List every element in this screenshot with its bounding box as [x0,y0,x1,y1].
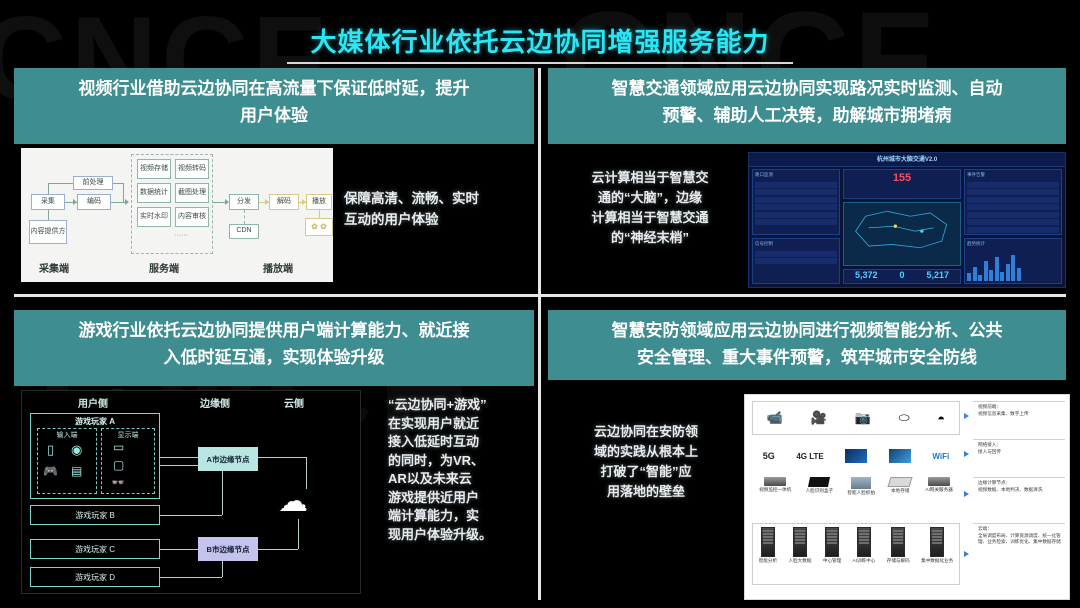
edge-device-item: AI网关服务器 [926,477,953,493]
slide-title: 大媒体行业依托云边协同增强服务能力 [0,22,1080,59]
note-text: 视频信息采集、数字上传 [978,411,1063,418]
note-text: 接入与回传 [978,449,1063,456]
traffic-note-line4: 的“神经末梢” [566,228,734,248]
game-header-line2: 入低时延互通，实现体验升级 [24,344,524,371]
dashboard-map [843,202,961,266]
title-underline [287,62,793,64]
edge-device-item: 本地存储 [889,477,911,494]
game-note-line: 现用户体验升级。 [388,526,536,545]
node-server-more: ······ [151,232,211,239]
edge-box-icon [764,477,786,486]
video-header: 视频行业借助云边协同在高流量下保证低时延，提升 用户体验 [14,68,534,144]
vr-headset-icon: 👓 [111,476,125,489]
quadrant-game: 游戏行业依托云边协同提供用户端计算能力、就近接 入低时延互通，实现体验升级 用户… [14,310,534,602]
server-rack-icon [793,527,807,557]
player-a-label: 游戏玩家 A [31,416,159,427]
server-rack-icon [857,527,871,557]
server-label: 集中数据化业务 [921,558,953,564]
node-content-audit: 内容审核 [175,207,209,227]
note-text: 视频数据、本地判决、数据清洗 [978,487,1063,494]
traffic-header-line2: 预警、辅助人工决策，助解城市拥堵病 [558,102,1056,129]
node-cdn: CDN [229,224,259,239]
node-play-devices: ✿ ✿ [305,218,333,236]
dashboard-kpi-value: 5,372 [855,270,878,280]
server-item: 集中数据化业务 [921,527,953,564]
camera-item: ⬭ [898,410,909,426]
5g-icon: 5G [763,451,775,461]
network-item: 4G LTE [796,452,823,461]
security-note-edge: 边缘计算节点： 视频数据、本地判决、数据清洗 [973,477,1065,519]
video-header-line1: 视频行业借助云边协同在高流量下保证低时延，提升 [24,75,524,102]
game-note-line: 在实现用户就近 [388,415,536,434]
gamepad-icon: 🎮 [43,464,58,478]
server-label: 存储与解码 [887,558,910,564]
edge-device-label: 人脸识别盒子 [806,488,834,494]
stage-label-server: 服务端 [149,260,179,275]
node-preprocess: 前处理 [73,176,113,190]
4g-lte-icon: 4G LTE [796,452,823,461]
network-item: 5G [763,451,775,461]
node-content-provider: 内容提供方 [29,220,67,244]
node-watermark: 实时水印 [137,207,171,227]
network-item: WiFi [932,452,949,461]
slide-root: CNCF CNCF CNCF 中国 大媒体行业依托云边协同增强服务能力 视频行业… [0,0,1080,608]
note-text: 全局调度布局、计算资源调度、统一化管理、业务检索、训练优化、集中数据存储 [978,533,1063,546]
game-note-line: AR以及未来云 [388,470,536,489]
node-video-storage: 视频存储 [137,159,171,179]
game-note-line: 游戏提供近用户 [388,489,536,508]
edge-device-label: 视频监控一体机 [759,487,791,493]
edge-device-label: AI网关服务器 [926,487,953,493]
dashboard-panel-label: 路口监测 [753,170,839,180]
server-item: 人脸大数据 [788,527,811,564]
traffic-note-line2: 通的“大脑”，边缘 [566,188,734,208]
edge-device-item: 人脸识别盒子 [806,477,834,494]
server-item: 存储与解码 [887,527,910,564]
server-label: 人脸大数据 [788,558,811,564]
monitor-icon: ▢ [113,458,124,472]
camera-item: 📷 [855,410,871,426]
stage-label-play: 播放端 [263,260,293,275]
camera-item: 📹 [767,410,783,426]
dashboard-bar-chart [965,249,1061,283]
security-architecture-figure: 📹 🎥 📷 ⬭ ◓ 视频前端： 视频信息采集、数字上传 5G 4G LTE [744,394,1070,600]
traffic-dashboard-screenshot: 杭州城市大脑交通V2.0 路口监测 信号控制 [748,152,1066,288]
server-item: 智能分析 [759,527,777,564]
dashboard-kpi-main: 155 [844,172,960,184]
game-architecture-figure: 用户侧 边缘侧 云侧 游戏玩家 A 输入端 显示端 ▯ ◉ 🎮 ▤ ▭ ▢ 👓 … [21,390,361,594]
divider-vertical [538,68,541,600]
traffic-note-line1: 云计算相当于智慧交 [566,168,734,188]
security-note: 云边协同在安防领 域的实践从根本上 打破了“智能”应 用落地的壁垒 [566,422,726,502]
edge-device-label: 本地存储 [891,488,909,494]
game-header: 游戏行业依托云边协同提供用户端计算能力、就近接 入低时延互通，实现体验升级 [14,310,534,386]
node-capture: 采集 [31,194,65,210]
security-note-line4: 用落地的壁垒 [566,482,726,502]
column-label-user: 用户侧 [78,395,108,410]
server-rack-icon [930,527,944,557]
server-item: AI训练中心 [853,527,876,564]
remote-control-icon: ▤ [71,464,82,478]
edge-box-icon [851,477,871,489]
game-note-line: 的同时，为VR、 [388,452,536,471]
server-label: 中心管理 [823,558,841,564]
column-label-edge: 边缘侧 [200,395,230,410]
camera-icon: ◉ [71,442,82,458]
subgroup-label-display: 显示端 [105,430,151,440]
bullet-camera-icon: 📹 [767,410,783,426]
storage-icon [888,477,913,487]
node-distribute: 分发 [229,194,259,210]
camera-item: 🎥 [811,410,827,426]
security-row-edge: 视频监控一体机 人脸识别盒子 智能人脸抓拍 本地存储 AI网关服务器 [752,477,960,519]
security-row-cameras: 📹 🎥 📷 ⬭ ◓ [752,401,960,435]
play-device-icon: ✿ ✿ [311,223,327,232]
quadrant-security: 智慧安防领域应用云边协同进行视频智能分析、公共 安全管理、重大事件预警，筑牢城市… [548,310,1066,602]
video-note-line2: 互动的用户体验 [344,209,534,230]
dome-camera-icon: ◓ [937,411,945,426]
quadrant-traffic: 智慧交通领域应用云边协同实现路况实时监测、自动 预警、辅助人工决策，助解城市拥堵… [548,68,1066,290]
traffic-note: 云计算相当于智慧交 通的“大脑”，边缘 计算相当于智慧交通 的“神经末梢” [566,168,734,248]
edge-device-label: 智能人脸抓拍 [847,490,875,496]
game-note: “云边协同+游戏” 在实现用户就近 接入低延时互动 的同时，为VR、 AR以及未… [388,396,536,544]
server-label: 智能分析 [759,558,777,564]
dashboard-panel-label: 趋势统计 [965,239,1061,249]
edge-node-b: B市边缘节点 [198,537,258,561]
camera-item: ◓ [937,411,945,426]
edge-node-a: A市边缘节点 [198,447,258,471]
dashboard-title: 杭州城市大脑交通V2.0 [749,154,1065,163]
bullet-camera-icon: 🎥 [811,410,827,426]
column-label-cloud: 云侧 [284,395,304,410]
player-c-box: 游戏玩家 C [30,539,160,559]
video-note-line1: 保障高清、流畅、实时 [344,188,534,209]
player-b-box: 游戏玩家 B [30,505,160,525]
slide-title-text: 大媒体行业依托云边协同增强服务能力 [310,27,769,57]
network-item [845,449,867,463]
node-encode: 编码 [77,194,111,210]
server-label: AI训练中心 [853,558,876,564]
security-note-network: 网络接入： 接入与回传 [973,439,1065,473]
server-rack-icon [891,527,905,557]
dome-camera-icon: ⬭ [898,410,909,426]
map-vector [844,203,960,253]
dashboard-titlebar: 杭州城市大脑交通V2.0 [749,153,1065,167]
node-video-transcode: 视频转码 [175,159,209,179]
subgroup-label-input: 输入端 [43,430,91,440]
security-note-cloud: 云端： 全局调度布局、计算资源调度、统一化管理、业务检索、训练优化、集中数据存储 [973,523,1065,585]
edge-box-icon [808,477,830,487]
game-note-line: 端计算能力，实 [388,507,536,526]
dashboard-kpi-value: 5,217 [926,270,949,280]
server-item: 中心管理 [823,527,841,564]
phone-icon: ▯ [47,442,54,458]
player-a-group: 游戏玩家 A 输入端 显示端 ▯ ◉ 🎮 ▤ ▭ ▢ 👓 [30,413,160,499]
traffic-header: 智慧交通领域应用云边协同实现路况实时监测、自动 预警、辅助人工决策，助解城市拥堵… [548,68,1066,144]
security-header-line1: 智慧安防领域应用云边协同进行视频智能分析、公共 [558,317,1056,344]
server-rack-icon [761,527,775,557]
security-note-line1: 云边协同在安防领 [566,422,726,442]
game-note-line: “云边协同+游戏” [388,396,536,415]
security-note-line2: 域的实践从根本上 [566,442,726,462]
laptop-icon: ▭ [113,440,124,454]
node-data-stats: 数据统计 [137,183,171,203]
video-note: 保障高清、流畅、实时 互动的用户体验 [344,188,534,230]
game-header-line1: 游戏行业依托云边协同提供用户端计算能力、就近接 [24,317,524,344]
security-note-video-front: 视频前端： 视频信息采集、数字上传 [973,401,1065,435]
security-row-cloud: 智能分析 人脸大数据 中心管理 AI训练中心 存储与解码 [752,523,960,585]
traffic-note-line3: 计算相当于智慧交通 [566,208,734,228]
player-d-box: 游戏玩家 D [30,567,160,587]
node-decode: 解码 [269,194,299,210]
ptz-camera-icon: 📷 [855,410,871,426]
gateway-icon [928,477,950,486]
node-play: 播放 [306,194,332,210]
quadrant-video: 视频行业借助云边协同在高流量下保证低时延，提升 用户体验 采集 内容提供方 前处… [14,68,534,290]
dashboard-kpi-value: 0 [899,270,904,280]
game-note-line: 接入低延时互动 [388,433,536,452]
server-rack-icon [825,527,839,557]
video-header-line2: 用户体验 [24,102,524,129]
network-chip-icon [845,449,867,463]
dashboard-panel-label: 事件告警 [965,170,1061,180]
network-chip-icon [889,449,911,463]
security-header-line2: 安全管理、重大事件预警，筑牢城市安全防线 [558,344,1056,371]
cloud-sync-icon: ☁ [278,487,308,517]
security-row-network: 5G 4G LTE WiFi [752,439,960,473]
dashboard-panel-label: 信号控制 [753,239,839,249]
security-note-line3: 打破了“智能”应 [566,462,726,482]
node-screenshot: 截图处理 [175,183,209,203]
wifi-icon: WiFi [932,452,949,461]
traffic-header-line1: 智慧交通领域应用云边协同实现路况实时监测、自动 [558,75,1056,102]
edge-device-item: 智能人脸抓拍 [847,477,875,496]
network-item [889,449,911,463]
edge-device-item: 视频监控一体机 [759,477,791,493]
stage-label-capture: 采集端 [39,260,69,275]
video-pipeline-figure: 采集 内容提供方 前处理 编码 视频存储 视频转码 数据统计 截图处理 [21,148,333,282]
security-header: 智慧安防领域应用云边协同进行视频智能分析、公共 安全管理、重大事件预警，筑牢城市… [548,310,1066,380]
